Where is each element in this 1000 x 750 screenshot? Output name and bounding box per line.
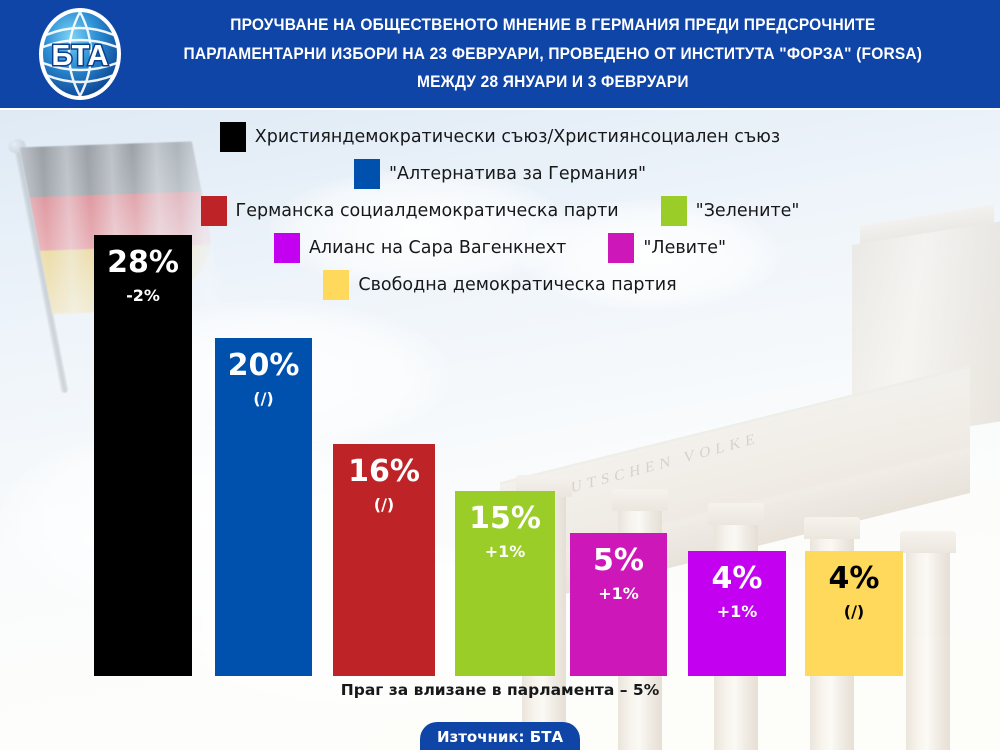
bar-value-label: 20% [228,350,300,382]
legend-label: Германска социалдемократическа парти [236,201,619,221]
legend-row: Алианс на Сара Вагенкнехт "Левите" [274,233,726,263]
legend: Християндемократически съюз/Християнсоци… [0,122,1000,300]
legend-item-spd[interactable]: Германска социалдемократическа парти [201,196,619,226]
bar-fdp[interactable]: 4% (/) [805,551,903,676]
legend-swatch-icon [608,233,634,263]
legend-item-fdp[interactable]: Свободна демократическа партия [323,270,676,300]
infographic-page: DEM DEUTSCHEN VOLKE [0,0,1000,750]
bar-change-label: +1% [717,602,758,621]
legend-swatch-icon [201,196,227,226]
legend-item-afd[interactable]: "Алтернатива за Германия" [354,159,646,189]
legend-item-greens[interactable]: "Зелените" [661,196,800,226]
bar-bsw[interactable]: 4% +1% [688,551,786,676]
legend-row: Германска социалдемократическа парти "Зе… [201,196,800,226]
legend-row: "Алтернатива за Германия" [354,159,646,189]
legend-row: Християндемократически съюз/Християнсоци… [220,122,780,152]
bar-spd[interactable]: 16% (/) [333,444,435,676]
bar-greens[interactable]: 15% +1% [455,491,555,676]
legend-swatch-icon [220,122,246,152]
bar-change-label: +1% [598,584,639,603]
bar-cdu-csu[interactable]: 28% -2% [94,235,192,676]
legend-label: Алианс на Сара Вагенкнехт [309,238,566,258]
bar-left[interactable]: 5% +1% [570,533,667,676]
bar-value-label: 15% [469,503,541,535]
legend-swatch-icon [661,196,687,226]
legend-label: "Зелените" [696,201,800,221]
bar-change-label: +1% [485,542,526,561]
bar-change-label: (/) [844,602,864,621]
bar-value-label: 16% [348,456,420,488]
legend-row: Свободна демократическа партия [323,270,676,300]
legend-item-left[interactable]: "Левите" [608,233,726,263]
bar-value-label: 4% [829,563,880,595]
bar-value-label: 4% [712,563,763,595]
legend-swatch-icon [274,233,300,263]
legend-label: "Алтернатива за Германия" [389,164,646,184]
legend-label: Християндемократически съюз/Християнсоци… [255,127,780,147]
bar-change-label: (/) [253,389,273,408]
bar-change-label: (/) [374,495,394,514]
legend-swatch-icon [354,159,380,189]
source-badge: Източник: БТА [420,722,580,750]
threshold-note: Праг за влизане в парламента – 5% [0,681,1000,699]
legend-label: Свободна демократическа партия [358,275,676,295]
legend-label: "Левите" [643,238,726,258]
bar-afd[interactable]: 20% (/) [215,338,312,676]
legend-item-cdu-csu[interactable]: Християндемократически съюз/Християнсоци… [220,122,780,152]
bar-value-label: 5% [593,545,644,577]
legend-swatch-icon [323,270,349,300]
bar-chart: 28% -2% 20% (/) 16% (/) 15% +1% 5% +1% 4… [0,0,1000,750]
legend-item-bsw[interactable]: Алианс на Сара Вагенкнехт [274,233,566,263]
